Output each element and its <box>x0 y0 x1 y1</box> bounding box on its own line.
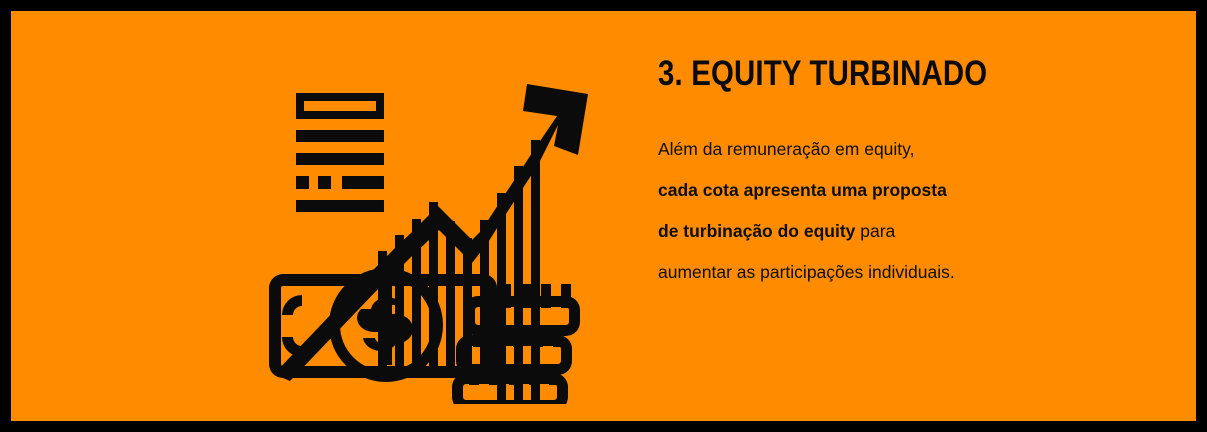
body-copy: Além da remuneração em equity, cada cota… <box>658 93 1058 293</box>
slide-panel: 3. EQUITY TURBINADO Além da remuneração … <box>11 11 1196 421</box>
document-lines-icon <box>296 93 384 212</box>
body-line-1: Além da remuneração em equity, <box>658 139 914 159</box>
page-title: 3. EQUITY TURBINADO <box>658 55 1061 93</box>
slide-frame: 3. EQUITY TURBINADO Além da remuneração … <box>0 0 1207 432</box>
dollar-sign-icon <box>329 268 443 382</box>
body-line-3-plain: para <box>855 221 895 241</box>
body-line-4: aumentar as participações individuais. <box>658 262 955 282</box>
body-line-3-bold: de turbinação do equity <box>658 221 855 241</box>
text-column: 3. EQUITY TURBINADO Além da remuneração … <box>658 55 1138 293</box>
body-line-2: cada cota apresenta uma proposta <box>658 180 947 200</box>
financial-growth-illustration <box>266 69 596 404</box>
